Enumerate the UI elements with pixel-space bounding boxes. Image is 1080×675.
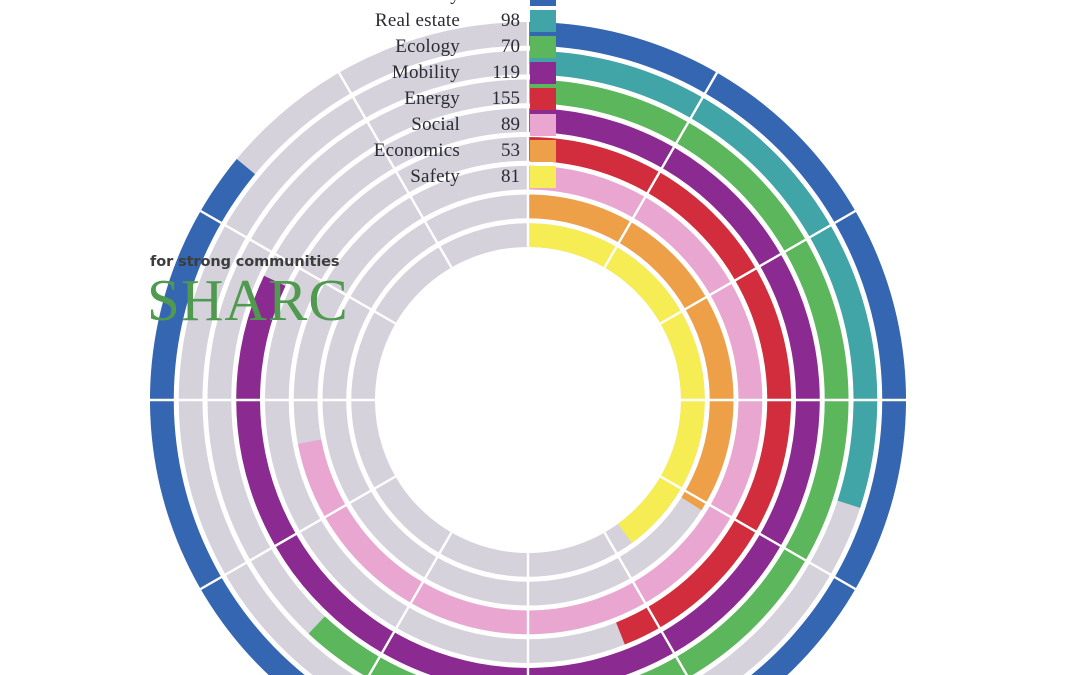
legend-row: Urbanity xyxy=(300,0,550,8)
legend-label: Urbanity xyxy=(300,0,466,6)
legend-label: Ecology xyxy=(300,36,466,58)
legend-value: 98 xyxy=(466,10,530,32)
legend-value: 70 xyxy=(466,36,530,58)
legend-color-swatch xyxy=(530,88,556,110)
legend-color-swatch xyxy=(530,36,556,58)
legend-row: Safety81 xyxy=(300,164,550,190)
legend-row: Mobility119 xyxy=(300,60,550,86)
legend-row: Real estate98 xyxy=(300,8,550,34)
legend-table: UrbanityReal estate98Ecology70Mobility11… xyxy=(300,0,550,190)
chart-canvas: UrbanityReal estate98Ecology70Mobility11… xyxy=(0,0,1080,675)
legend-label: Real estate xyxy=(300,10,466,32)
sharc-logo: for strong communities SHARC xyxy=(147,255,362,327)
legend-label: Safety xyxy=(300,166,466,188)
legend-color-swatch xyxy=(530,140,556,162)
legend-row: Ecology70 xyxy=(300,34,550,60)
legend-row: Economics53 xyxy=(300,138,550,164)
legend-color-swatch xyxy=(530,114,556,136)
legend-row: Energy155 xyxy=(300,86,550,112)
legend-label: Economics xyxy=(300,140,466,162)
legend-value: 81 xyxy=(466,166,530,188)
legend-value: 89 xyxy=(466,114,530,136)
legend-label: Social xyxy=(300,114,466,136)
legend-color-swatch xyxy=(530,10,556,32)
legend-color-swatch xyxy=(530,0,556,6)
legend-value: 155 xyxy=(466,88,530,110)
legend-label: Mobility xyxy=(300,62,466,84)
legend-value: 119 xyxy=(466,62,530,84)
legend-color-swatch xyxy=(530,62,556,84)
legend-color-swatch xyxy=(530,166,556,188)
legend-label: Energy xyxy=(300,88,466,110)
logo-wordmark: SHARC xyxy=(147,273,362,327)
legend-row: Social89 xyxy=(300,112,550,138)
legend-value: 53 xyxy=(466,140,530,162)
